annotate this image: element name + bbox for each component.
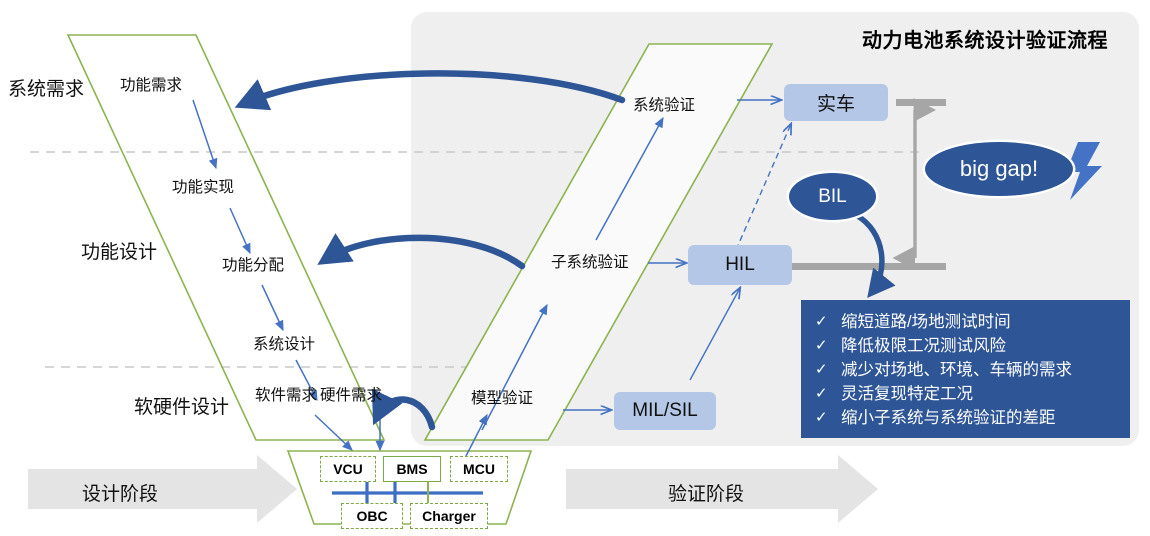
page-title: 动力电池系统设计验证流程: [862, 31, 1108, 51]
diagram-canvas: 动力电池系统设计验证流程 系统需求 功能设计 软硬件设计 功能需求 功能实现 功…: [0, 0, 1150, 536]
v-step-model-verification: 模型验证: [471, 391, 533, 407]
arrow-func-req-to-impl: [193, 100, 216, 168]
benefits-panel: ✓ 缩短道路/场地测试时间 ✓ 降低极限工况测试风险 ✓ 减少对场地、环境、车辆…: [801, 300, 1130, 438]
stage-label-sw-hw-design: 软硬件设计: [134, 398, 229, 417]
design-phase-arrow-shape: [28, 455, 297, 523]
benefit-item: ✓ 灵活复现特定工况: [815, 382, 1122, 406]
benefit-item: ✓ 缩小子系统与系统验证的差距: [815, 406, 1122, 430]
stage-label-functional-design: 功能设计: [81, 243, 157, 262]
test-level-box-hil[interactable]: HIL: [688, 245, 792, 285]
stage-label-system-requirements: 系统需求: [8, 80, 84, 99]
component-label-bms: BMS: [396, 461, 427, 477]
v-model-left-arm: [68, 35, 384, 440]
v-step-system-verification: 系统验证: [633, 98, 695, 114]
v-step-functional-implementation: 功能实现: [172, 180, 234, 196]
v-step-functional-requirements: 功能需求: [120, 78, 182, 94]
check-icon: ✓: [815, 310, 841, 334]
component-label-mcu: MCU: [463, 461, 495, 477]
callout-label-bil: BIL: [818, 186, 847, 208]
v-step-hardware-requirements: 硬件需求: [320, 388, 382, 404]
component-box-mcu[interactable]: MCU: [450, 456, 508, 482]
check-icon: ✓: [815, 382, 841, 406]
callout-oval-big-gap[interactable]: big gap!: [925, 142, 1073, 196]
v-step-subsystem-verification: 子系统验证: [551, 255, 629, 271]
v-step-system-design: 系统设计: [253, 337, 315, 353]
phase-label-verification: 验证阶段: [668, 479, 744, 506]
gap-bar-top: [896, 99, 946, 106]
component-box-vcu[interactable]: VCU: [320, 456, 376, 482]
check-icon: ✓: [815, 334, 841, 358]
test-level-label-milsil: MIL/SIL: [632, 400, 697, 422]
benefit-item: ✓ 缩短道路/场地测试时间: [815, 310, 1122, 334]
test-level-label-vehicle: 实车: [817, 89, 855, 116]
arrow-impl-to-alloc: [230, 208, 250, 253]
callout-label-big-gap: big gap!: [960, 156, 1038, 182]
component-label-vcu: VCU: [333, 461, 363, 477]
arrow-swreq-to-component: [315, 415, 352, 450]
component-box-obc[interactable]: OBC: [341, 503, 403, 529]
benefit-item: ✓ 降低极限工况测试风险: [815, 334, 1122, 358]
component-box-bms[interactable]: BMS: [383, 456, 441, 482]
benefit-text: 减少对场地、环境、车辆的需求: [841, 358, 1072, 382]
phase-label-design: 设计阶段: [82, 479, 158, 506]
benefit-text: 缩小子系统与系统验证的差距: [841, 406, 1056, 430]
callout-oval-bil[interactable]: BIL: [789, 173, 876, 220]
benefits-list: ✓ 缩短道路/场地测试时间 ✓ 降低极限工况测试风险 ✓ 减少对场地、环境、车辆…: [815, 310, 1122, 430]
v-step-functional-allocation: 功能分配: [222, 258, 284, 274]
test-level-box-vehicle[interactable]: 实车: [784, 84, 888, 121]
benefit-text: 灵活复现特定工况: [841, 382, 973, 406]
component-label-charger: Charger: [422, 508, 476, 524]
test-level-box-milsil[interactable]: MIL/SIL: [614, 392, 716, 430]
check-icon: ✓: [815, 406, 841, 430]
test-level-label-hil: HIL: [725, 254, 755, 276]
v-step-software-requirements: 软件需求: [255, 388, 317, 404]
benefit-item: ✓ 减少对场地、环境、车辆的需求: [815, 358, 1122, 382]
benefit-text: 缩短道路/场地测试时间: [841, 310, 1011, 334]
component-label-obc: OBC: [356, 508, 387, 524]
check-icon: ✓: [815, 358, 841, 382]
component-box-charger[interactable]: Charger: [410, 503, 488, 529]
benefit-text: 降低极限工况测试风险: [841, 334, 1006, 358]
gap-bar-bottom: [790, 263, 946, 270]
arrow-alloc-to-sysdesign: [262, 285, 283, 330]
